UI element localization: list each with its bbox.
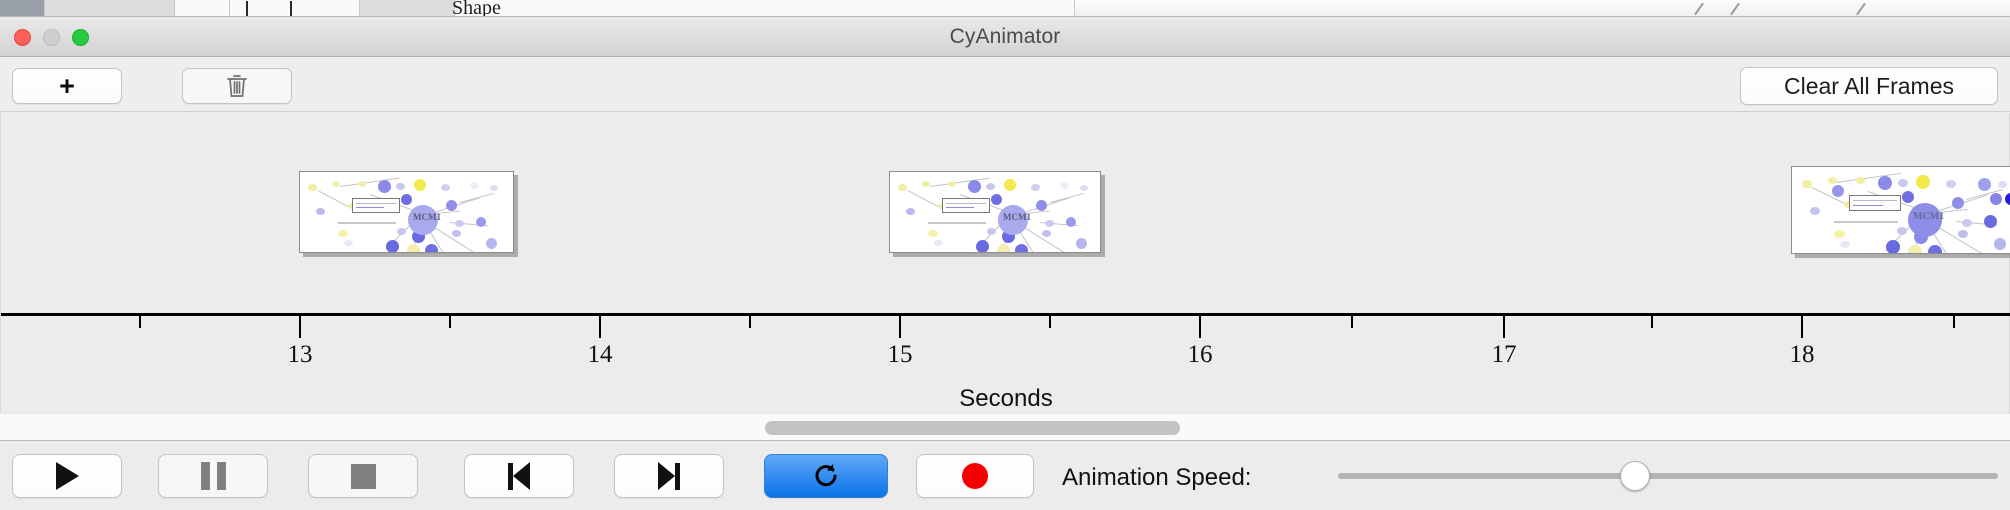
ruler-label: 15: [888, 341, 913, 369]
ruler-tick-major: [899, 316, 901, 338]
bg-slash: [1694, 3, 1704, 16]
bg-cell: [175, 0, 230, 17]
record-icon: [962, 463, 988, 489]
hub-node-label: MCM1: [413, 212, 441, 222]
stop-button[interactable]: [308, 454, 418, 498]
keyframe-thumbnail-1[interactable]: MCM1: [299, 171, 514, 253]
pause-icon: [201, 462, 226, 490]
keyframes-area: MCM1: [1, 113, 2010, 313]
network-preview: MCM1: [1792, 167, 2010, 253]
loop-button[interactable]: [764, 454, 888, 498]
ruler-tick-major: [1199, 316, 1201, 338]
bg-slash: [1730, 3, 1740, 16]
playback-controls: Animation Speed:: [0, 442, 2010, 510]
bg-cell: [360, 0, 455, 17]
keyframe-thumbnail-2[interactable]: MCM1: [889, 171, 1101, 253]
scrollbar-thumb[interactable]: [765, 421, 1180, 435]
clear-all-frames-button[interactable]: Clear All Frames: [1740, 67, 1998, 105]
timeline-panel: MCM1: [0, 113, 2010, 413]
ruler-label: 17: [1492, 341, 1517, 369]
ruler-baseline: [1, 313, 2010, 316]
ruler-tick-minor: [1049, 316, 1051, 328]
timeline-ruler[interactable]: 2 13 14 15 16 17 18 Seconds: [1, 313, 2010, 413]
ruler-tick-minor: [1953, 316, 1955, 328]
animation-speed-thumb[interactable]: [1620, 461, 1650, 491]
hub-node-label: MCM1: [1003, 212, 1031, 222]
plus-icon: +: [59, 73, 75, 100]
bg-cell: [455, 0, 1075, 17]
bg-cell: [45, 0, 175, 17]
hub-node-label: MCM1: [1913, 211, 1944, 222]
ruler-label: 18: [1790, 341, 1815, 369]
record-button[interactable]: [916, 454, 1034, 498]
window-title: CyAnimator: [0, 25, 2010, 49]
bg-cell: [230, 0, 360, 17]
skip-end-button[interactable]: [614, 454, 724, 498]
ruler-tick-minor: [1351, 316, 1353, 328]
skip-start-button[interactable]: [464, 454, 574, 498]
pause-button[interactable]: [158, 454, 268, 498]
network-tooltip: [1849, 195, 1901, 211]
background-shape-label: Shape: [452, 0, 501, 17]
skip-end-icon: [658, 462, 680, 490]
loop-icon: [811, 461, 841, 491]
bg-cell: [0, 0, 45, 17]
ruler-tick-major: [299, 316, 301, 338]
stop-icon: [351, 464, 376, 489]
ruler-label: 16: [1188, 341, 1213, 369]
network-preview: MCM1: [890, 172, 1100, 252]
ruler-tick-major: [1801, 316, 1803, 338]
play-button[interactable]: [12, 454, 122, 498]
network-tooltip: [942, 198, 990, 213]
skip-start-icon: [508, 462, 530, 490]
bg-tick: [246, 1, 248, 16]
bg-slash: [1856, 3, 1866, 16]
cyanimator-window: Shape CyAnimator + Clear All Frames: [0, 0, 2010, 510]
ruler-label: 14: [588, 341, 613, 369]
keyframe-thumbnail-3[interactable]: MCM1: [1791, 166, 2010, 254]
ruler-tick-minor: [139, 316, 141, 328]
ruler-tick-major: [599, 316, 601, 338]
add-frame-button[interactable]: +: [12, 68, 122, 104]
ruler-tick-minor: [1651, 316, 1653, 328]
network-preview: MCM1: [300, 172, 513, 252]
bg-tick: [290, 1, 292, 16]
animation-speed-slider[interactable]: [1338, 473, 1998, 479]
ruler-tick-minor: [749, 316, 751, 328]
axis-title-seconds: Seconds: [1, 385, 2010, 413]
ruler-tick-major: [1503, 316, 1505, 338]
ruler-tick-minor: [449, 316, 451, 328]
delete-frame-button[interactable]: [182, 68, 292, 104]
ruler-label: 13: [288, 341, 313, 369]
trash-icon: [225, 73, 249, 99]
title-bar[interactable]: CyAnimator: [0, 17, 2010, 57]
bg-slash-group: [1580, 0, 2010, 17]
background-window-strip: Shape: [0, 0, 2010, 17]
horizontal-scrollbar[interactable]: [0, 413, 2010, 441]
play-icon: [56, 462, 79, 490]
animation-speed-label: Animation Speed:: [1062, 464, 1251, 492]
network-tooltip: [352, 198, 400, 213]
toolbar: + Clear All Frames: [0, 58, 2010, 112]
